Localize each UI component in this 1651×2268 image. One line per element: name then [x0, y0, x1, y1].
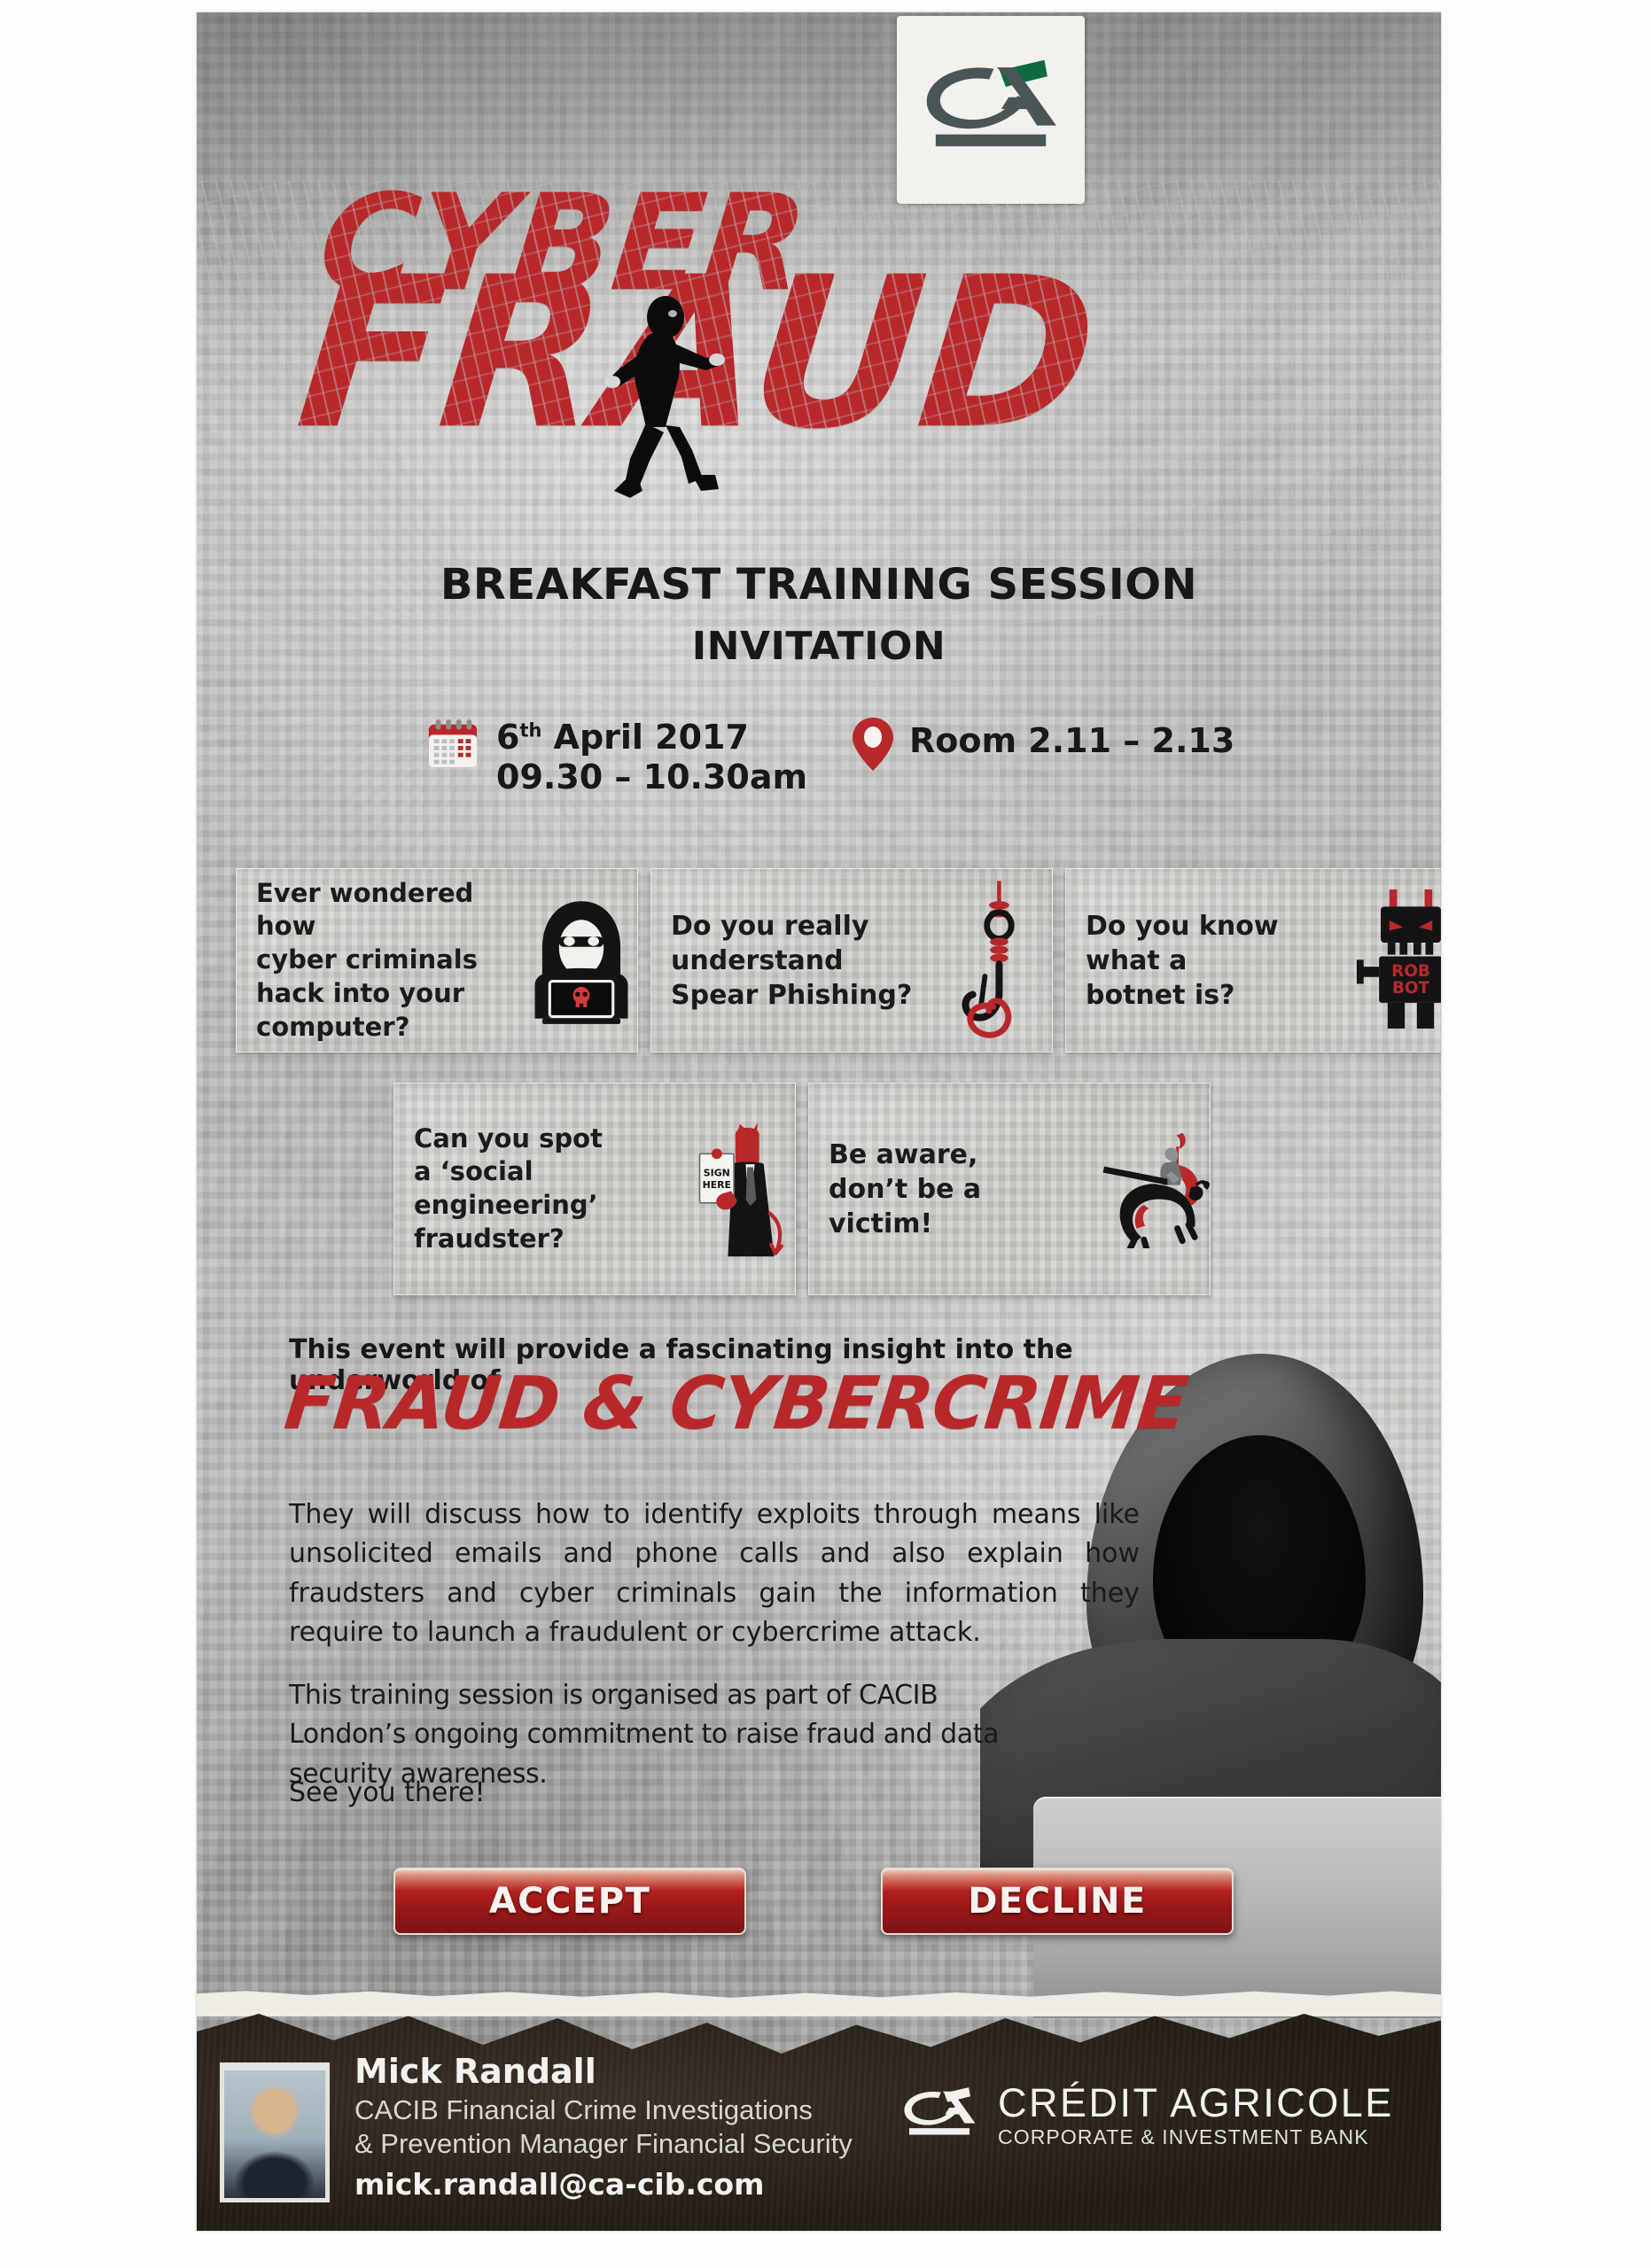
question-card-art	[526, 896, 637, 1026]
speaker-email[interactable]: mick.randall@ca-cib.com	[354, 2167, 853, 2202]
footer-band: Mick Randall CACIB Financial Crime Inves…	[197, 1990, 1441, 2231]
event-date-block: 6th April 2017 09.30 – 10.30am	[425, 718, 807, 797]
ca-tagline: CORPORATE & INVESTMENT BANK	[998, 2127, 1394, 2148]
event-time-line: 09.30 – 10.30am	[496, 757, 807, 797]
ca-mark-icon	[916, 43, 1065, 176]
robot-botnet-icon: ROB BOT	[1355, 888, 1441, 1034]
speaker-details: Mick Randall CACIB Financial Crime Inves…	[354, 2052, 853, 2202]
sign-label-1: SIGN	[704, 1168, 730, 1179]
hooded-hacker-laptop-icon	[526, 896, 637, 1026]
speaker-headshot	[220, 2062, 330, 2202]
question-card-text: Do you really understand Spear Phishing?	[651, 909, 940, 1013]
speaker-role-line-1: CACIB Financial Crime Investigations	[354, 2093, 853, 2127]
accept-button[interactable]: ACCEPT	[393, 1868, 746, 1935]
question-card-art	[940, 879, 1052, 1041]
credit-agricole-wordmark: CRÉDIT AGRICOLE CORPORATE & INVESTMENT B…	[998, 2083, 1394, 2148]
question-card-hacking: Ever wondered how cyber criminals hack i…	[236, 868, 638, 1052]
robot-label-2: BOT	[1392, 979, 1430, 998]
question-card-phishing: Do you really understand Spear Phishing?	[650, 868, 1053, 1052]
running-burglar-icon	[600, 294, 751, 507]
ca-name: CRÉDIT AGRICOLE	[998, 2083, 1394, 2123]
headline-fraud-cybercrime: FRAUD & CYBERCRIME	[282, 1368, 1190, 1441]
subtitle-primary: BREAKFAST TRAINING SESSION	[197, 560, 1441, 610]
calendar-icon	[425, 718, 480, 773]
question-card-art: ROB BOT	[1355, 888, 1441, 1034]
event-date-line: 6th April 2017	[496, 718, 807, 757]
credit-agricole-logo-top	[897, 16, 1085, 204]
question-card-text: Can you spot a ‘social engineering’ frau…	[394, 1122, 683, 1256]
paragraph-one: They will discuss how to identify exploi…	[289, 1495, 1140, 1653]
paragraph-three: See you there!	[289, 1774, 1140, 1813]
map-pin-icon	[853, 718, 893, 771]
speaker-role-line-2: & Prevention Manager Financial Security	[354, 2127, 853, 2161]
devil-salesman-icon: SIGN HERE	[683, 1118, 795, 1260]
accept-button-label: ACCEPT	[489, 1881, 651, 1922]
hero-title: CYBER FRAUD	[197, 181, 1441, 562]
phishing-hook-at-icon	[940, 879, 1052, 1041]
question-card-text: Do you know what a botnet is?	[1066, 909, 1355, 1013]
knight-on-horse-icon	[1098, 1130, 1210, 1248]
sign-label-2: HERE	[703, 1179, 731, 1191]
question-card-art: SIGN HERE	[683, 1118, 795, 1260]
decline-button-label: DECLINE	[968, 1881, 1147, 1922]
decline-button[interactable]: DECLINE	[881, 1868, 1234, 1935]
ca-mark-icon	[899, 2080, 980, 2149]
event-location-block: Room 2.11 – 2.13	[853, 721, 1234, 771]
question-card-be-aware: Be aware, don’t be a victim!	[808, 1083, 1211, 1295]
event-date-text: 6th April 2017 09.30 – 10.30am	[496, 718, 807, 797]
question-card-text: Be aware, don’t be a victim!	[809, 1138, 1098, 1241]
poster: CYBER FRAUD BREAKFAST TRAINING SESSION I…	[197, 12, 1441, 2231]
event-room-text: Room 2.11 – 2.13	[909, 721, 1234, 761]
footer-content: Mick Randall CACIB Financial Crime Inves…	[197, 2041, 1441, 2231]
question-card-text: Ever wondered how cyber criminals hack i…	[237, 877, 526, 1044]
robot-label-1: ROB	[1391, 961, 1430, 980]
question-card-social-engineering: Can you spot a ‘social engineering’ frau…	[393, 1083, 796, 1295]
event-meta: 6th April 2017 09.30 – 10.30am Room 2.11…	[197, 718, 1441, 824]
credit-agricole-logo-footer: CRÉDIT AGRICOLE CORPORATE & INVESTMENT B…	[899, 2080, 1394, 2149]
headshot-photo	[224, 2067, 325, 2198]
question-card-art	[1098, 1130, 1210, 1248]
question-card-botnet: Do you know what a botnet is? ROB BOT	[1065, 868, 1441, 1052]
torn-paper-edge	[197, 1990, 1441, 2016]
poster-page: CYBER FRAUD BREAKFAST TRAINING SESSION I…	[0, 0, 1651, 2268]
subtitle-secondary: INVITATION	[197, 624, 1441, 669]
speaker-name: Mick Randall	[354, 2052, 853, 2091]
